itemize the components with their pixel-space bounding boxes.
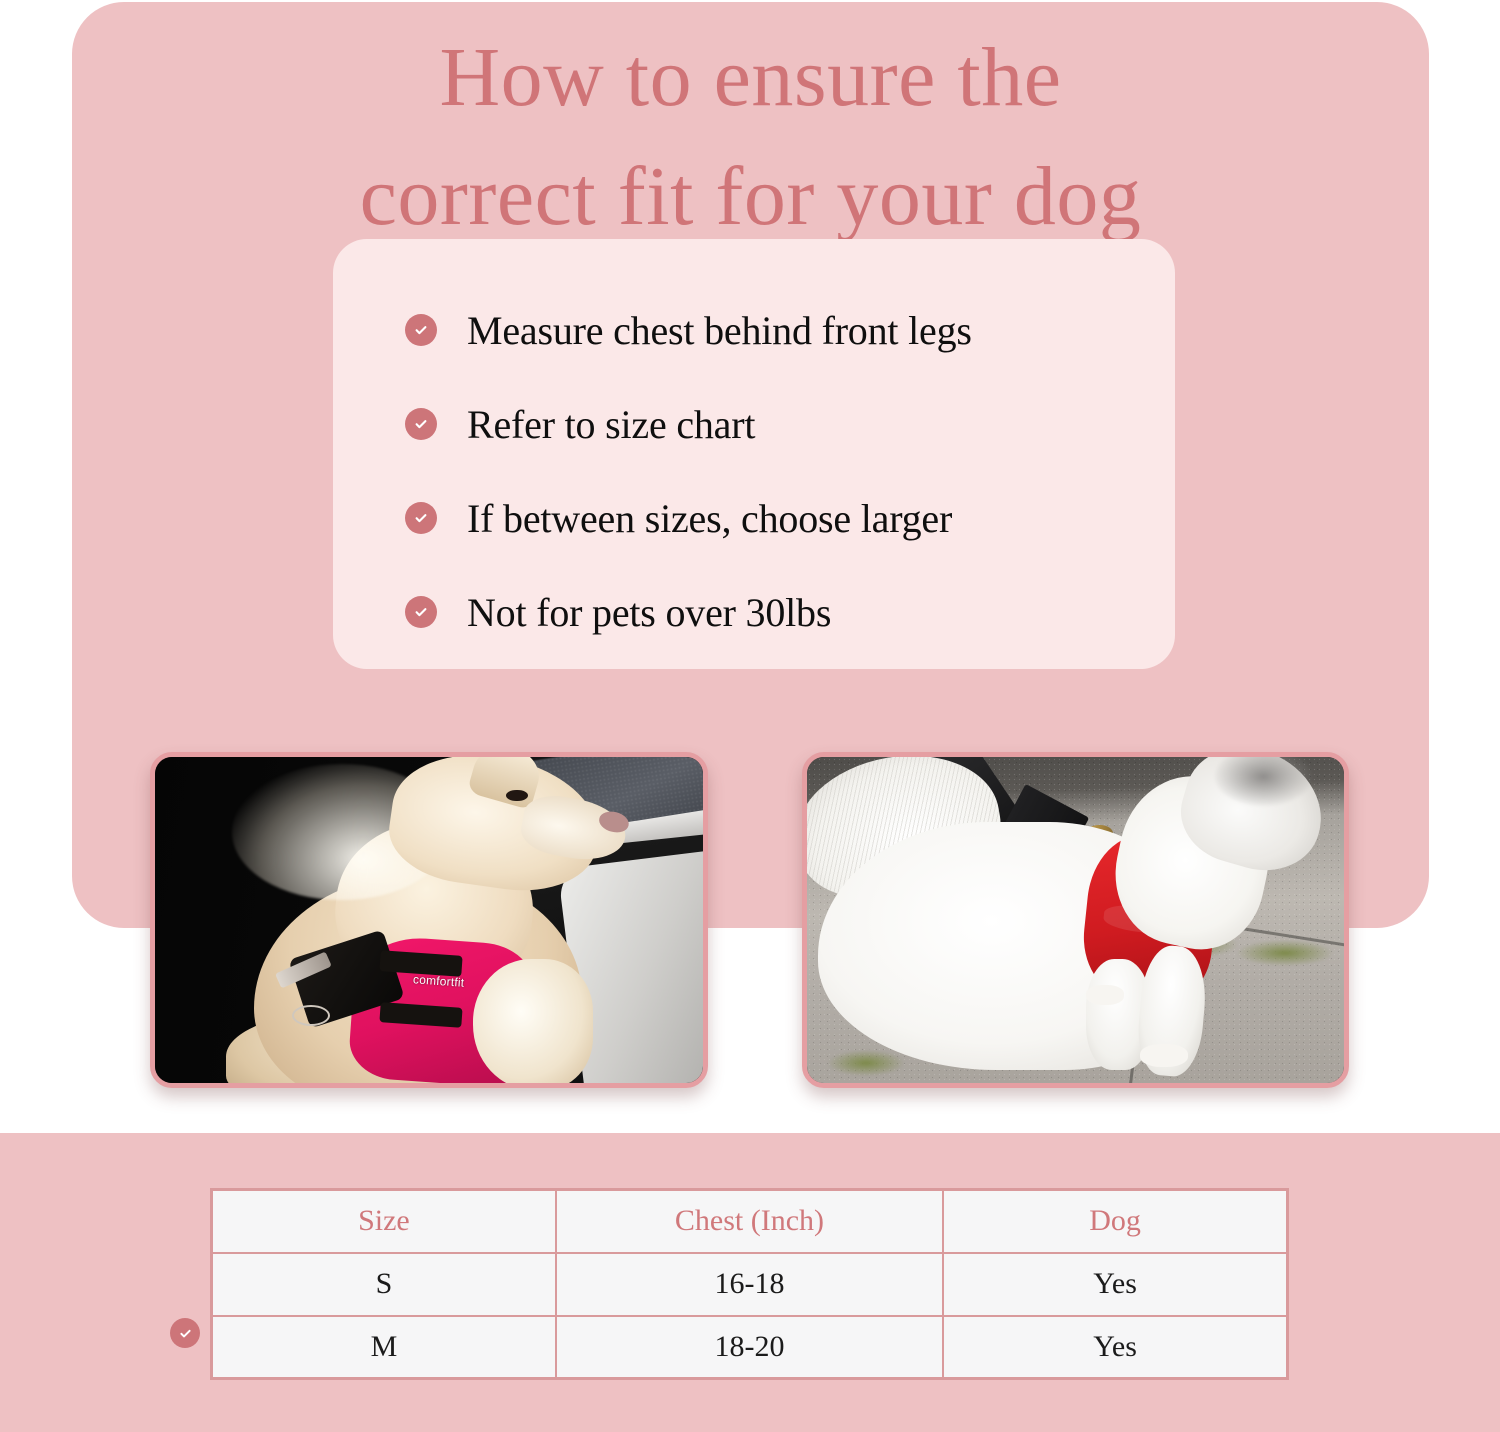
- selected-row-check-circle-icon: [170, 1318, 200, 1348]
- fit-tips-card: Measure chest behind front legs Refer to…: [333, 239, 1175, 669]
- tip-text: Refer to size chart: [467, 401, 755, 448]
- list-item: Measure chest behind front legs: [405, 283, 1175, 377]
- cell-chest: 16-18: [556, 1253, 943, 1316]
- check-circle-icon: [405, 314, 437, 346]
- table-row[interactable]: S 16-18 Yes: [212, 1253, 1288, 1316]
- page-title: How to ensure the correct fit for your d…: [72, 18, 1429, 257]
- cell-dog: Yes: [943, 1316, 1287, 1379]
- column-header-chest: Chest (Inch): [556, 1190, 943, 1253]
- check-circle-icon: [405, 596, 437, 628]
- list-item: Not for pets over 30lbs: [405, 565, 1175, 659]
- dog-in-car-pink-harness-photo: comfortfit: [150, 752, 708, 1088]
- size-chart-table: Size Chest (Inch) Dog S 16-18 Yes M 18-2…: [210, 1188, 1289, 1380]
- cell-chest: 18-20: [556, 1316, 943, 1379]
- list-item: Refer to size chart: [405, 377, 1175, 471]
- cell-size: S: [212, 1253, 556, 1316]
- tip-text: Not for pets over 30lbs: [467, 589, 831, 636]
- white-dog-red-harness-photo: [802, 752, 1349, 1088]
- tip-text: Measure chest behind front legs: [467, 307, 972, 354]
- cell-dog: Yes: [943, 1253, 1287, 1316]
- column-header-dog: Dog: [943, 1190, 1287, 1253]
- list-item: If between sizes, choose larger: [405, 471, 1175, 565]
- check-circle-icon: [405, 408, 437, 440]
- table-header-row: Size Chest (Inch) Dog: [212, 1190, 1288, 1253]
- infographic-page: How to ensure the correct fit for your d…: [0, 0, 1500, 1432]
- tip-text: If between sizes, choose larger: [467, 495, 952, 542]
- size-chart-table-wrapper: Size Chest (Inch) Dog S 16-18 Yes M 18-2…: [210, 1188, 1289, 1380]
- cell-size: M: [212, 1316, 556, 1379]
- check-circle-icon: [405, 502, 437, 534]
- column-header-size: Size: [212, 1190, 556, 1253]
- table-row[interactable]: M 18-20 Yes: [212, 1316, 1288, 1379]
